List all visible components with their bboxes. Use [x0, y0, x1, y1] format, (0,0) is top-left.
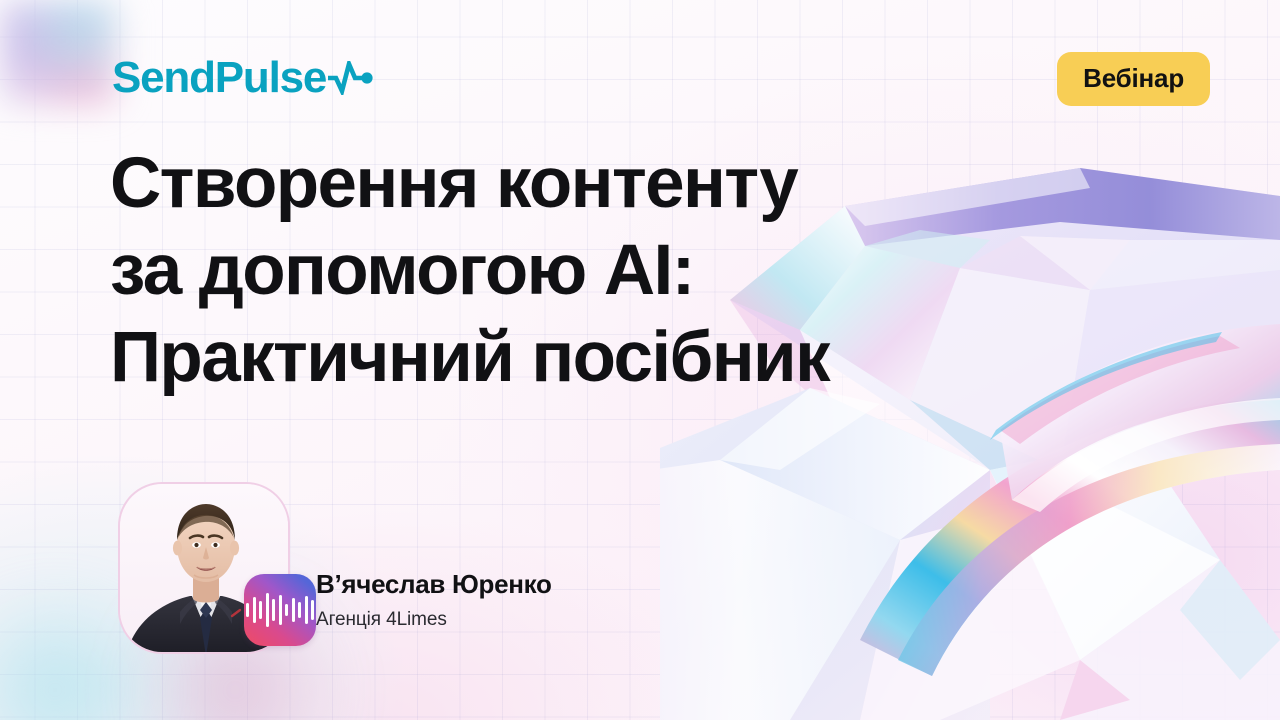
speaker-name: В’ячеслав Юренко — [316, 570, 552, 600]
speaker-block: В’ячеслав Юренко Агенція 4Limes — [118, 482, 552, 654]
webinar-badge: Вебінар — [1057, 52, 1210, 106]
pulse-icon — [328, 61, 376, 100]
title-line-1: Створення контенту — [110, 140, 1010, 227]
title-line-2: за допомогою AI: — [110, 227, 1010, 314]
speaker-info: В’ячеслав Юренко Агенція 4Limes — [316, 570, 552, 654]
blurred-iridescent-square-icon — [0, 0, 118, 105]
avatar — [118, 482, 290, 654]
webinar-cover: SendPulse Вебінар Створення контенту за … — [0, 0, 1280, 720]
audio-waveform-icon — [244, 574, 316, 646]
logo-wordmark: SendPulse — [112, 56, 326, 100]
sendpulse-logo[interactable]: SendPulse — [112, 55, 376, 100]
title-line-3: Практичний посібник — [110, 314, 1010, 401]
speaker-role: Агенція 4Limes — [316, 609, 552, 632]
page-title: Створення контенту за допомогою AI: Прак… — [110, 140, 1010, 401]
